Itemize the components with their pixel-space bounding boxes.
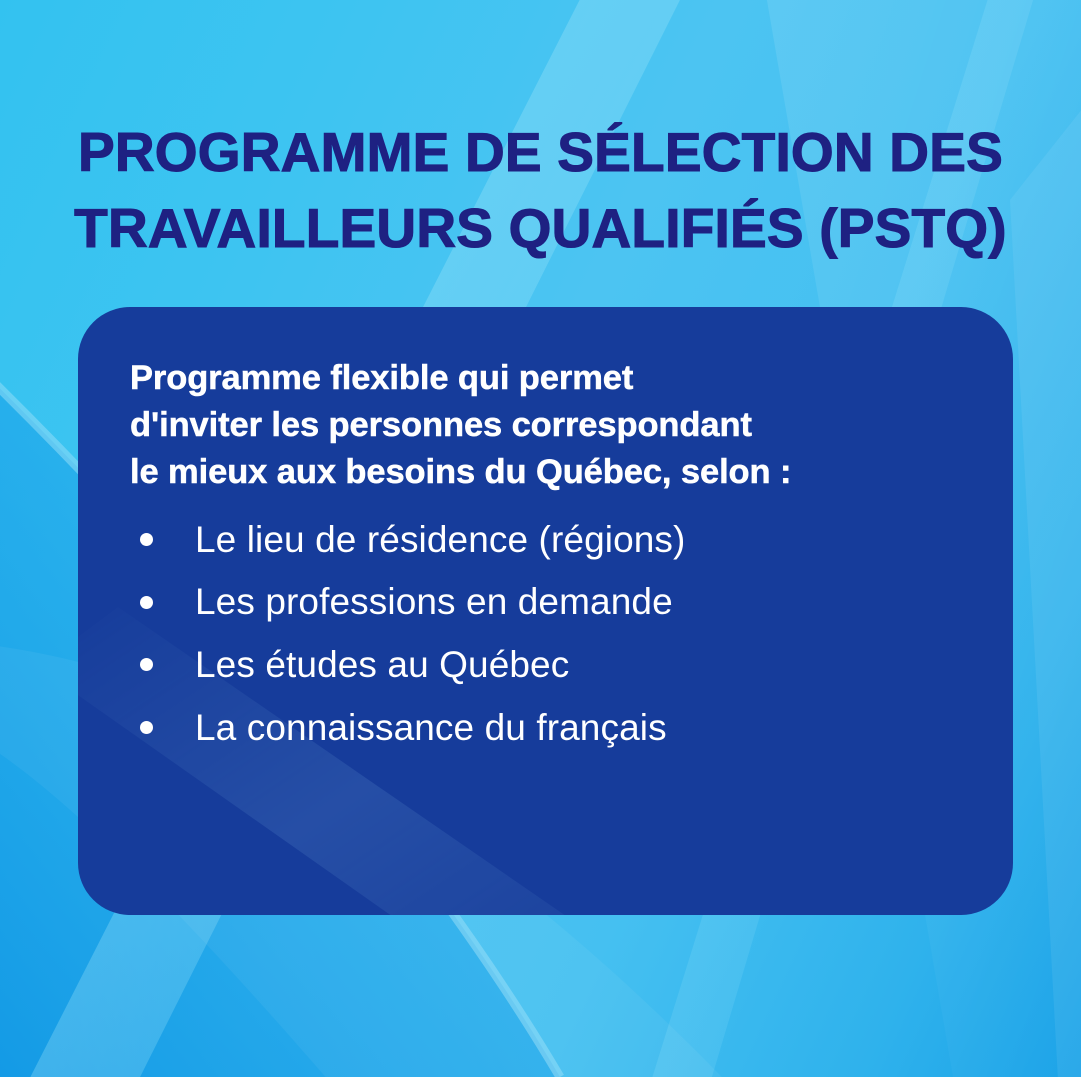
card-intro-line-1: Programme flexible qui permet (130, 355, 969, 402)
list-item: Les études au Québec (130, 643, 969, 687)
bullet-dot-icon (140, 596, 153, 609)
list-item: La connaissance du français (130, 706, 969, 750)
list-item: Les professions en demande (130, 580, 969, 624)
bullet-dot-icon (140, 533, 153, 546)
page-title-line-2: TRAVAILLEURS QUALIFIÉS (PSTQ) (40, 191, 1041, 267)
bullet-dot-icon (140, 658, 153, 671)
page-title: PROGRAMME DE SÉLECTION DES TRAVAILLEURS … (0, 115, 1081, 267)
page-title-line-1: PROGRAMME DE SÉLECTION DES (40, 115, 1041, 191)
list-item: Le lieu de résidence (régions) (130, 518, 969, 562)
card-intro-paragraph: Programme flexible qui permet d'inviter … (130, 355, 969, 496)
info-card: Programme flexible qui permet d'inviter … (78, 307, 1013, 915)
poster-canvas: PROGRAMME DE SÉLECTION DES TRAVAILLEURS … (0, 0, 1081, 1077)
list-item-label: Le lieu de résidence (régions) (195, 518, 685, 562)
list-item-label: La connaissance du français (195, 706, 667, 750)
card-intro-line-3: le mieux aux besoins du Québec, selon : (130, 449, 969, 496)
card-intro-line-2: d'inviter les personnes correspondant (130, 402, 969, 449)
list-item-label: Les professions en demande (195, 580, 673, 624)
bullet-dot-icon (140, 721, 153, 734)
list-item-label: Les études au Québec (195, 643, 569, 687)
criteria-list: Le lieu de résidence (régions) Les profe… (130, 518, 969, 750)
